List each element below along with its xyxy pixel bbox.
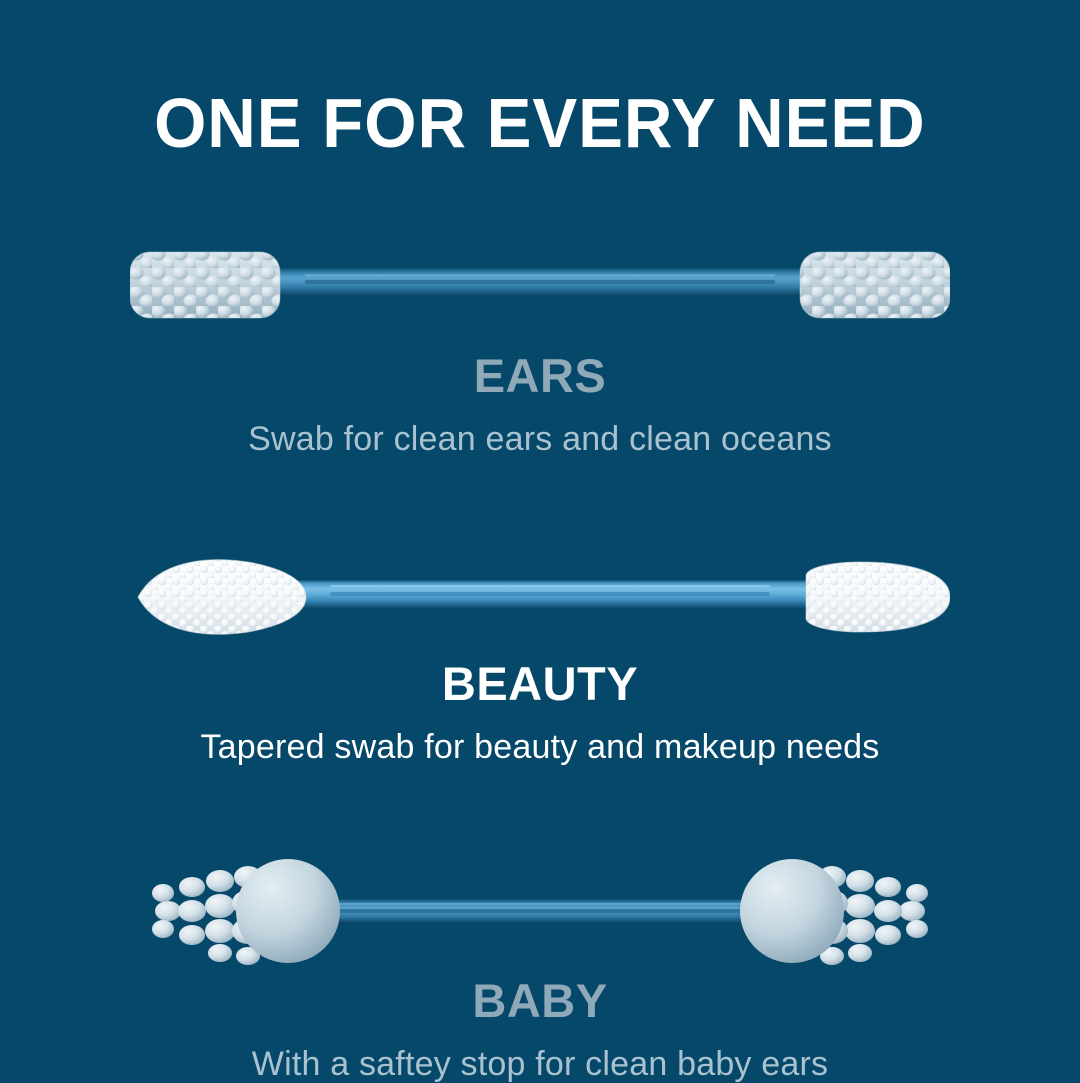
ears-swab [130, 230, 950, 340]
page-title: ONE FOR EVERY NEED [154, 88, 926, 158]
beauty-swab-wrap [0, 542, 1080, 652]
ears-tip-left [130, 252, 280, 318]
beauty-tip-right-club [790, 552, 950, 642]
section-beauty: BEAUTY Tapered swab for beauty and makeu… [0, 542, 1080, 766]
baby-tip-right [740, 859, 928, 965]
ears-heading: EARS [474, 352, 607, 399]
beauty-caption: Tapered swab for beauty and makeup needs [200, 729, 879, 766]
section-baby: BABY With a saftey stop for clean baby e… [0, 851, 1080, 1083]
baby-swab-wrap [0, 851, 1080, 971]
section-ears: EARS Swab for clean ears and clean ocean… [0, 230, 1080, 458]
ears-tip-right [800, 252, 950, 318]
beauty-swab [130, 542, 950, 652]
beauty-tip-left-tapered [130, 552, 320, 642]
ears-swab-wrap [0, 230, 1080, 340]
baby-safety-stop-left [236, 859, 340, 963]
ears-caption: Swab for clean ears and clean oceans [248, 421, 832, 458]
beauty-heading: BEAUTY [442, 660, 638, 707]
baby-swab [130, 851, 950, 971]
baby-tip-left [152, 859, 340, 965]
baby-caption: With a saftey stop for clean baby ears [252, 1046, 828, 1083]
infographic-poster: ONE FOR EVERY NEED [0, 0, 1080, 1080]
baby-safety-stop-right [740, 859, 844, 963]
baby-heading: BABY [472, 977, 607, 1024]
